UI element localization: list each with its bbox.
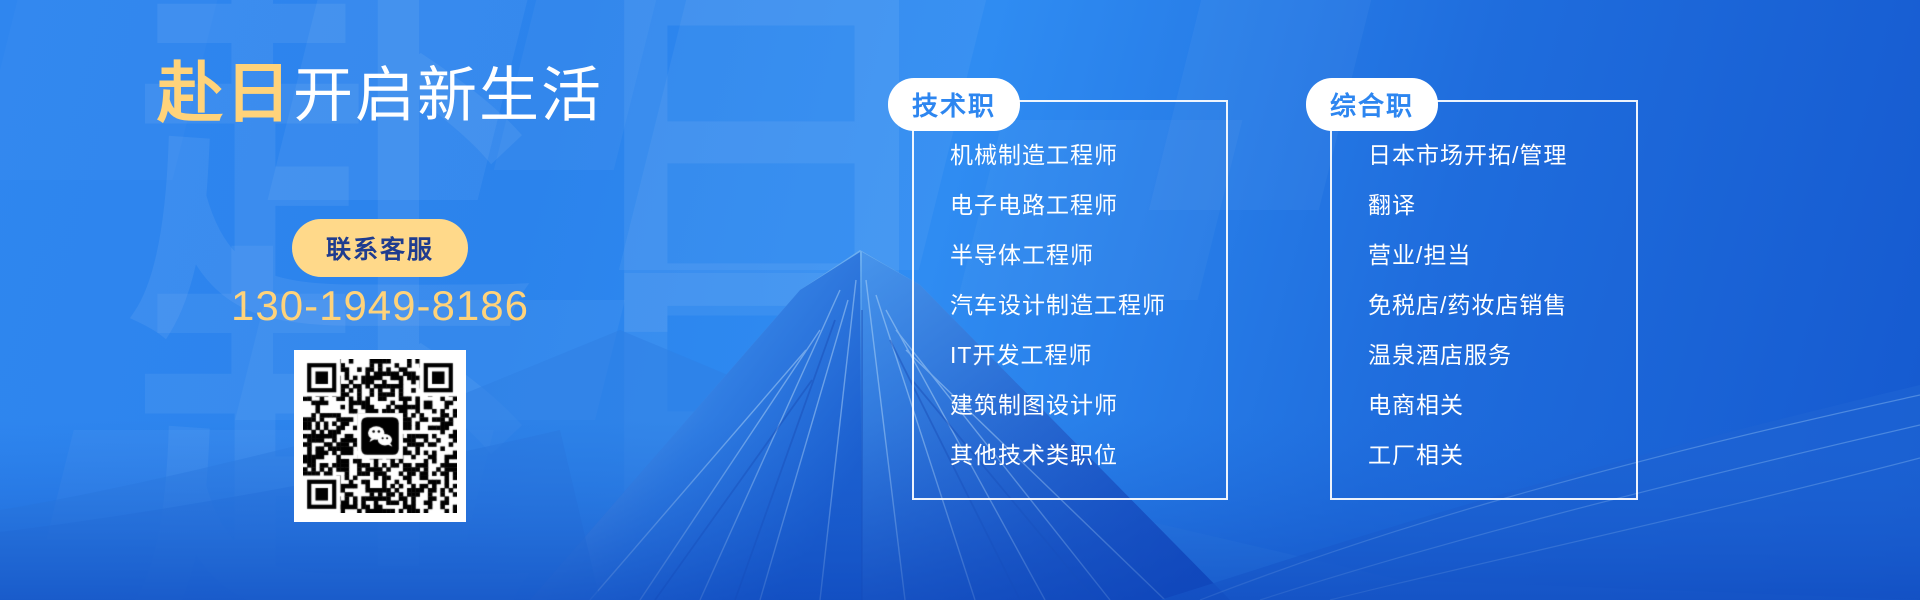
list-item[interactable]: 营业/担当: [1368, 230, 1636, 280]
list-item[interactable]: 工厂相关: [1368, 430, 1636, 480]
job-column-tech: 技术职 机械制造工程师 电子电路工程师 半导体工程师 汽车设计制造工程师 IT开…: [912, 100, 1228, 500]
left-panel: 赴日开启新生活 联系客服 130-1949-8186: [0, 0, 760, 600]
job-column-tech-title: 技术职: [888, 78, 1020, 131]
headline-accent: 赴日: [157, 56, 293, 130]
job-column-general-title: 综合职: [1306, 78, 1438, 131]
list-item[interactable]: 翻译: [1368, 180, 1636, 230]
headline-main: 开启新生活: [293, 62, 603, 129]
list-item[interactable]: 日本市场开拓/管理: [1368, 130, 1636, 180]
promo-banner: 赴日 赴日: [0, 0, 1920, 600]
job-list-tech: 机械制造工程师 电子电路工程师 半导体工程师 汽车设计制造工程师 IT开发工程师…: [914, 130, 1226, 480]
list-item[interactable]: 汽车设计制造工程师: [950, 280, 1226, 330]
list-item[interactable]: 其他技术类职位: [950, 430, 1226, 480]
list-item[interactable]: 免税店/药妆店销售: [1368, 280, 1636, 330]
phone-number[interactable]: 130-1949-8186: [0, 282, 760, 330]
list-item[interactable]: 半导体工程师: [950, 230, 1226, 280]
job-column-general: 综合职 日本市场开拓/管理 翻译 营业/担当 免税店/药妆店销售 温泉酒店服务 …: [1330, 100, 1638, 500]
list-item[interactable]: IT开发工程师: [950, 330, 1226, 380]
list-item[interactable]: 建筑制图设计师: [950, 380, 1226, 430]
qr-code-image: [303, 359, 457, 513]
list-item[interactable]: 机械制造工程师: [950, 130, 1226, 180]
contact-support-button[interactable]: 联系客服: [292, 219, 468, 277]
wechat-qr-code[interactable]: [294, 350, 466, 522]
page-title: 赴日开启新生活: [0, 40, 760, 136]
list-item[interactable]: 电子电路工程师: [950, 180, 1226, 230]
job-list-general: 日本市场开拓/管理 翻译 营业/担当 免税店/药妆店销售 温泉酒店服务 电商相关…: [1332, 130, 1636, 480]
list-item[interactable]: 温泉酒店服务: [1368, 330, 1636, 380]
list-item[interactable]: 电商相关: [1368, 380, 1636, 430]
